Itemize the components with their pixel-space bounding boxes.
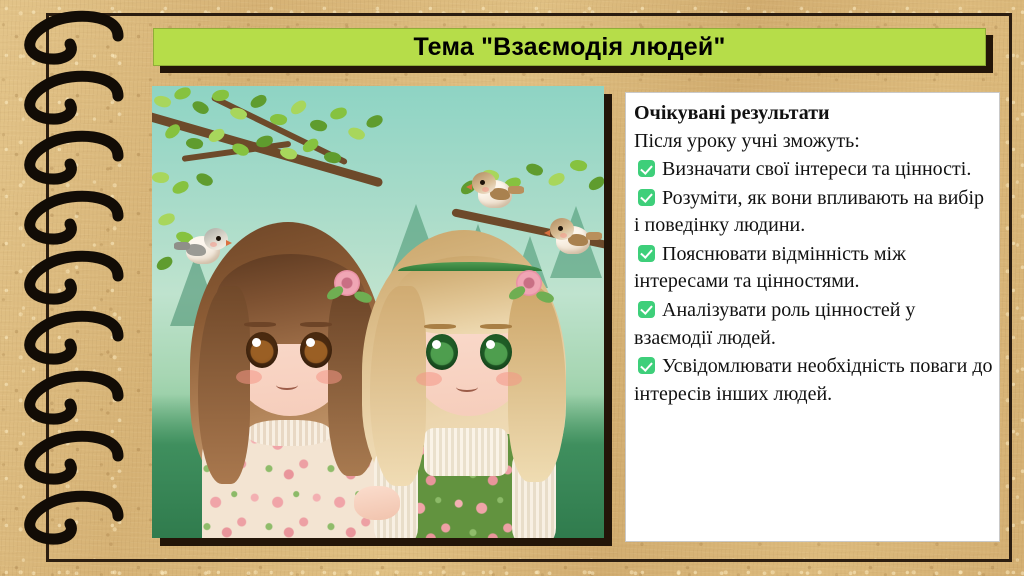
title-bar: Тема "Взаємодія людей": [153, 28, 986, 66]
eye-right: [480, 334, 512, 370]
blouse: [424, 428, 508, 476]
collar: [248, 420, 330, 446]
check-icon: [638, 189, 655, 206]
eye-right: [300, 332, 332, 368]
expected-results-panel: Очікувані результати Після уроку учні зм…: [625, 92, 1000, 542]
cheek-blush: [316, 370, 342, 384]
panel-lead: Після уроку учні зможуть:: [634, 128, 993, 154]
eyebrow-right: [480, 324, 512, 329]
hair-side-left: [198, 286, 250, 484]
eyebrow-left: [244, 322, 276, 327]
list-item: Усвідомлювати необхідність поваги до інт…: [634, 353, 993, 408]
list-item: Розуміти, як вони впливають на вибір і п…: [634, 185, 993, 240]
eye-glint: [432, 340, 441, 349]
list-item-label: Усвідомлювати необхідність поваги до інт…: [634, 355, 993, 405]
list-item-label: Визначати свої інтереси та цінності.: [662, 158, 971, 180]
list-item-label: Розуміти, як вони впливають на вибір і п…: [634, 187, 984, 237]
list-item-label: Аналізувати роль цінностей у взаємодії л…: [634, 299, 915, 349]
mouth: [456, 382, 478, 392]
check-icon: [638, 301, 655, 318]
cheek-blush: [496, 372, 522, 386]
check-icon: [638, 160, 655, 177]
list-item-label: Пояснювати відмінність між інтересами та…: [634, 243, 906, 293]
check-icon: [638, 245, 655, 262]
eye-glint: [486, 340, 495, 349]
list-item: Аналізувати роль цінностей у взаємодії л…: [634, 297, 993, 352]
held-hands: [354, 486, 400, 520]
eye-glint: [252, 338, 261, 347]
list-item: Пояснювати відмінність між інтересами та…: [634, 241, 993, 296]
cheek-blush: [416, 372, 442, 386]
page-title: Тема "Взаємодія людей": [413, 33, 725, 62]
spiral-binding: [0, 0, 132, 576]
eye-left: [426, 334, 458, 370]
slide-background: Тема "Взаємодія людей": [0, 0, 1024, 576]
mouth: [276, 380, 298, 390]
eyebrow-left: [424, 324, 456, 329]
list-item: Визначати свої інтереси та цінності.: [634, 156, 993, 184]
hair-side-left: [370, 286, 426, 486]
check-icon: [638, 357, 655, 374]
eye-left: [246, 332, 278, 368]
eyebrow-right: [300, 322, 332, 327]
panel-heading: Очікувані результати: [634, 101, 993, 126]
eye-glint: [306, 338, 315, 347]
cheek-blush: [236, 370, 262, 384]
illustration-image: [152, 86, 604, 538]
